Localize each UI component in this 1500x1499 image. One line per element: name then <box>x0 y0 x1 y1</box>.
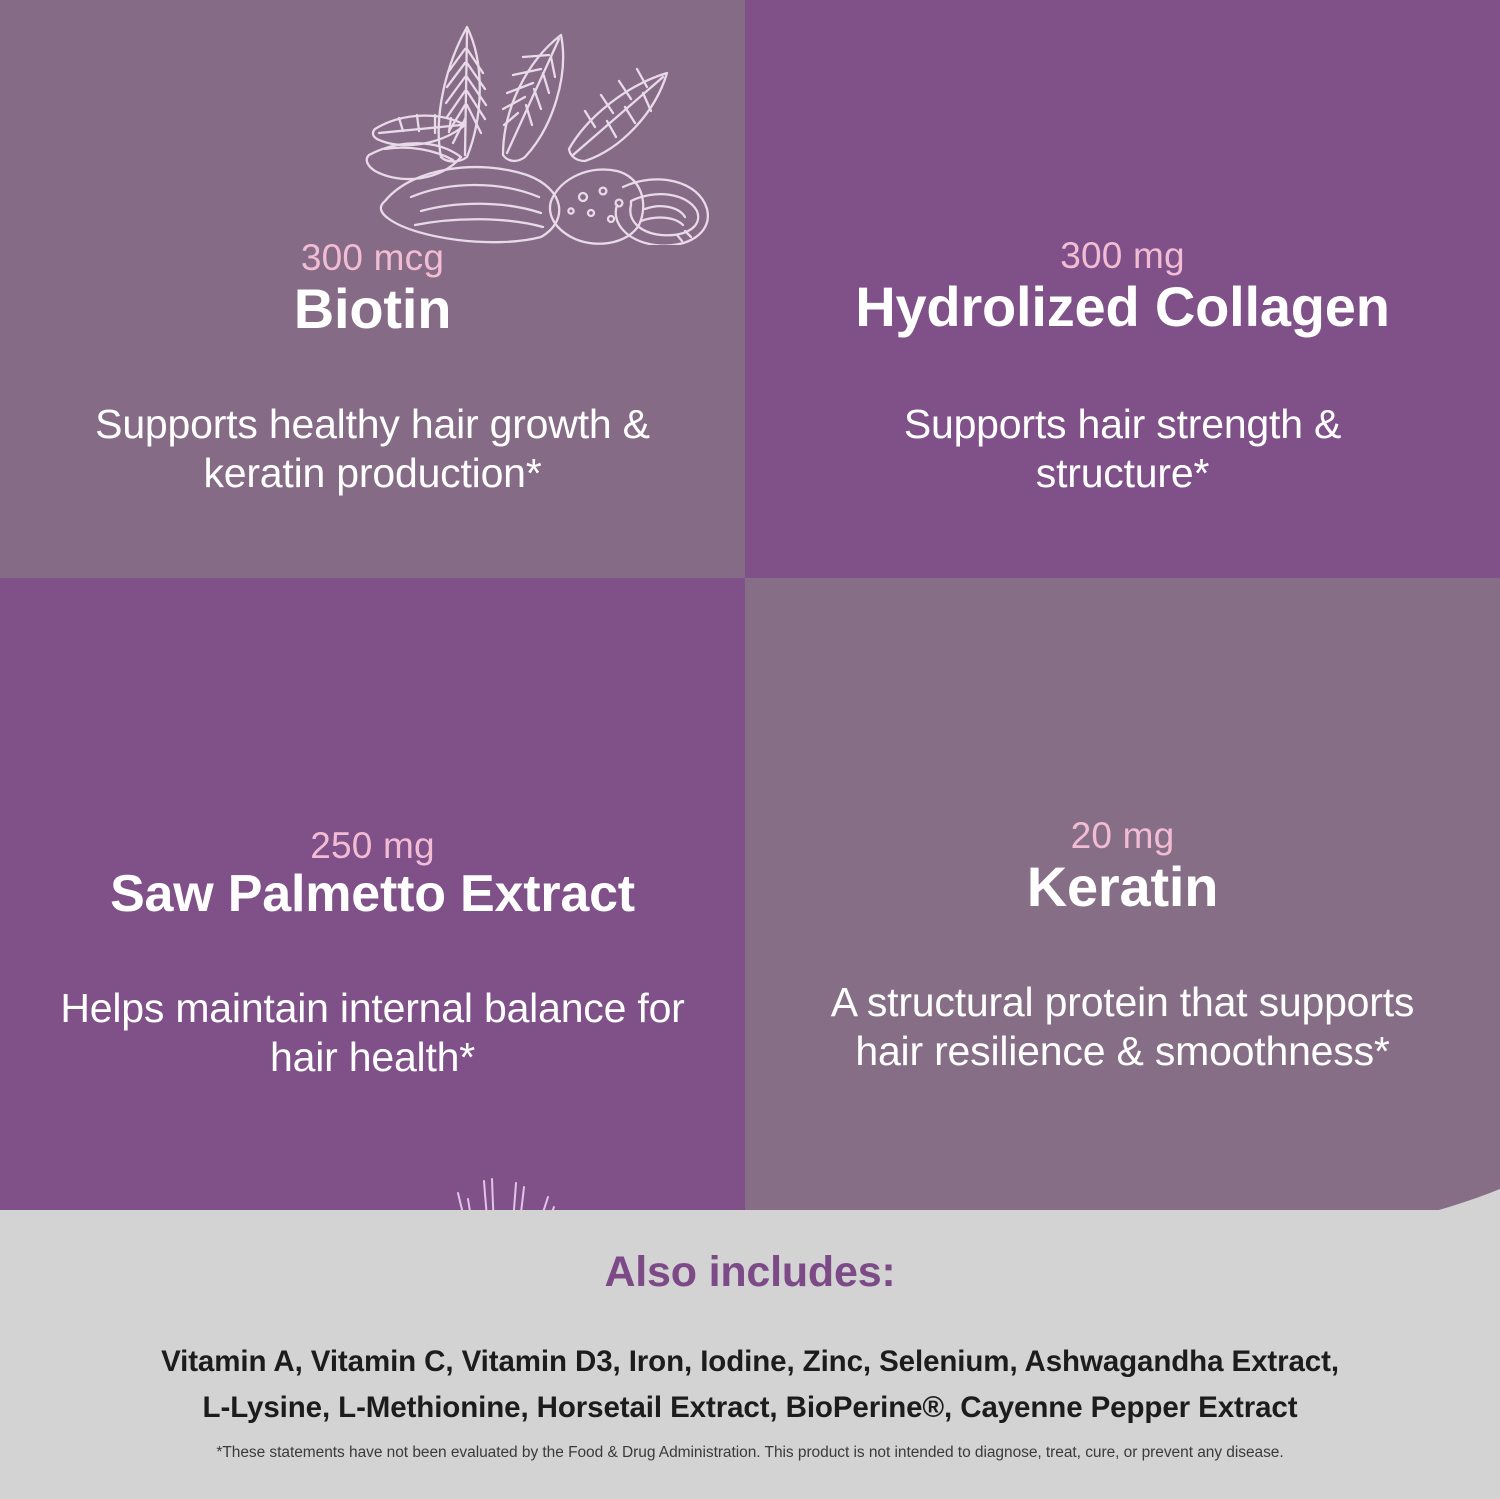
saw-palmetto-name: Saw Palmetto Extract <box>0 867 745 923</box>
ingredient-list-line-2: L-Lysine, L-Methionine, Horsetail Extrac… <box>55 1385 1445 1431</box>
biotin-dose: 300 mcg <box>0 238 745 279</box>
saw-palmetto-dose: 250 mg <box>0 826 745 867</box>
ingredient-list-line-1: Vitamin A, Vitamin C, Vitamin D3, Iron, … <box>55 1339 1445 1385</box>
also-includes-title: Also includes: <box>0 1248 1500 1297</box>
panel-keratin: 20 mg Keratin A structural protein that … <box>745 578 1500 1210</box>
fda-disclaimer: *These statements have not been evaluate… <box>0 1444 1500 1462</box>
keratin-heading: 20 mg Keratin <box>745 816 1500 917</box>
palm-frond-icon <box>280 1173 720 1210</box>
panel-saw-palmetto-extract: 250 mg Saw Palmetto Extract Helps mainta… <box>0 578 745 1210</box>
keratin-dose: 20 mg <box>745 816 1500 857</box>
saw-palmetto-description: Helps maintain internal balance for hair… <box>0 984 745 1082</box>
almond-leaves-icon <box>355 5 715 245</box>
keratin-description: A structural protein that supports hair … <box>745 978 1500 1076</box>
collagen-dose: 300 mg <box>745 236 1500 277</box>
panel-biotin: 300 mcg Biotin Supports healthy hair gro… <box>0 0 745 578</box>
biotin-name: Biotin <box>0 279 745 339</box>
saw-palmetto-heading: 250 mg Saw Palmetto Extract <box>0 826 745 922</box>
keratin-name: Keratin <box>745 857 1500 917</box>
biotin-description: Supports healthy hair growth & keratin p… <box>0 400 745 498</box>
collagen-description: Supports hair strength & structure* <box>745 400 1500 498</box>
also-includes-section: Also includes: Vitamin A, Vitamin C, Vit… <box>0 1210 1500 1499</box>
product-ingredient-infographic: 300 mcg Biotin Supports healthy hair gro… <box>0 0 1500 1499</box>
collagen-name: Hydrolized Collagen <box>745 277 1500 337</box>
collagen-heading: 300 mg Hydrolized Collagen <box>745 236 1500 337</box>
biotin-heading: 300 mcg Biotin <box>0 238 745 339</box>
ingredient-quadrant-grid: 300 mcg Biotin Supports healthy hair gro… <box>0 0 1500 1210</box>
panel-hydrolized-collagen: 300 mg Hydrolized Collagen Supports hair… <box>745 0 1500 578</box>
ingredient-list: Vitamin A, Vitamin C, Vitamin D3, Iron, … <box>0 1339 1500 1430</box>
